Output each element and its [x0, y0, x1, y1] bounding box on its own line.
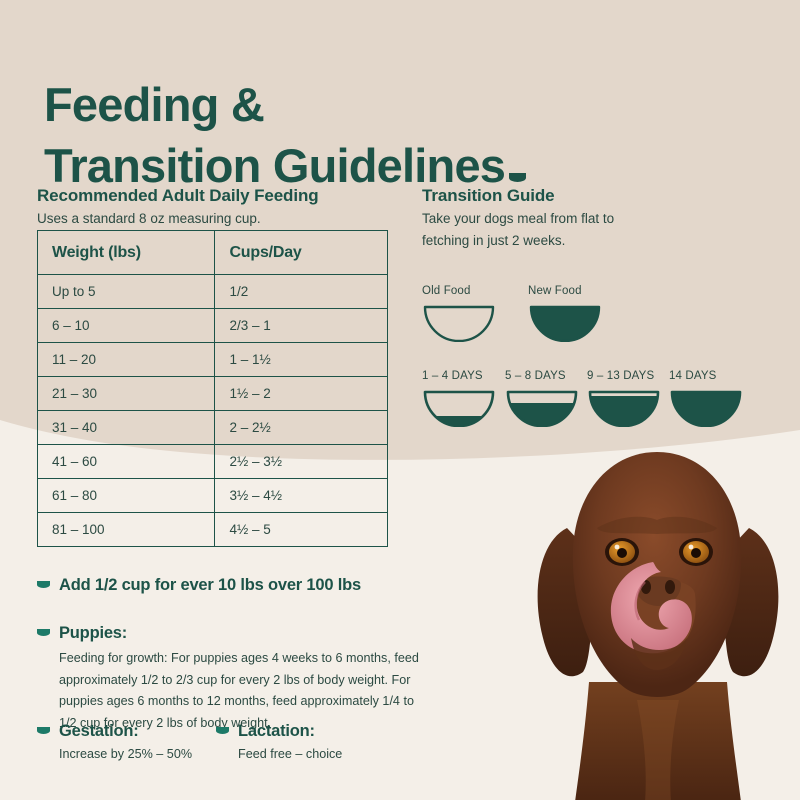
- stage-label: 9 – 13 DAYS: [587, 370, 661, 382]
- page-title-line-2: Transition Guidelines: [44, 139, 505, 192]
- table-row: 21 – 301½ – 2: [38, 377, 388, 411]
- bowl-bullet-icon: [37, 727, 50, 734]
- feeding-guidelines-page: Feeding & Transition Guidelines Recommen…: [0, 0, 800, 800]
- cell-cups: 1/2: [215, 275, 388, 309]
- table-row: 31 – 402 – 2½: [38, 411, 388, 445]
- table-row: 6 – 102/3 – 1: [38, 309, 388, 343]
- cell-weight: Up to 5: [38, 275, 215, 309]
- cell-cups: 4½ – 5: [215, 513, 388, 547]
- legend-old-food-label: Old Food: [422, 285, 496, 297]
- cell-weight: 6 – 10: [38, 309, 215, 343]
- note-gestation-heading: Gestation:: [59, 722, 139, 741]
- note-gestation-heading-row: Gestation:: [37, 722, 192, 741]
- stage-1-4-days: 1 – 4 DAYS: [422, 370, 496, 427]
- stage-label: 5 – 8 DAYS: [505, 370, 579, 382]
- cell-cups: 2½ – 3½: [215, 445, 388, 479]
- cell-cups: 2/3 – 1: [215, 309, 388, 343]
- stage-5-8-days: 5 – 8 DAYS: [505, 370, 579, 427]
- table-row: Up to 51/2: [38, 275, 388, 309]
- feeding-subheading: Uses a standard 8 oz measuring cup.: [37, 208, 397, 230]
- bowl-bullet-icon: [37, 581, 50, 588]
- table-row: 41 – 602½ – 3½: [38, 445, 388, 479]
- bowl-full-icon: [528, 304, 602, 342]
- note-lactation-body: Feed free – choice: [238, 744, 342, 766]
- cell-weight: 21 – 30: [38, 377, 215, 411]
- bowl-quarter-icon: [422, 389, 496, 427]
- feeding-heading: Recommended Adult Daily Feeding: [37, 186, 319, 206]
- legend-old-food: Old Food: [422, 285, 496, 342]
- note-gestation: Gestation: Increase by 25% – 50%: [37, 722, 192, 766]
- stage-label: 1 – 4 DAYS: [422, 370, 496, 382]
- stage-14-days: 14 DAYS: [669, 370, 743, 427]
- note-puppies-heading-row: Puppies:: [37, 624, 425, 643]
- table-header-row: Weight (lbs) Cups/Day: [38, 231, 388, 275]
- bowl-mostly-full-icon: [587, 389, 661, 427]
- table-row: 61 – 803½ – 4½: [38, 479, 388, 513]
- feeding-table: Weight (lbs) Cups/Day Up to 51/2 6 – 102…: [37, 230, 388, 547]
- cell-weight: 31 – 40: [38, 411, 215, 445]
- stage-9-13-days: 9 – 13 DAYS: [587, 370, 661, 427]
- page-title: Feeding & Transition Guidelines: [44, 75, 704, 195]
- cell-cups: 1½ – 2: [215, 377, 388, 411]
- note-puppies: Puppies: Feeding for growth: For puppies…: [37, 624, 425, 735]
- note-lactation: Lactation: Feed free – choice: [216, 722, 342, 766]
- bowl-empty-icon: [422, 304, 496, 342]
- bowl-period-icon: [509, 173, 526, 182]
- note-add-cup-heading-row: Add 1/2 cup for ever 10 lbs over 100 lbs: [37, 576, 361, 595]
- cell-weight: 61 – 80: [38, 479, 215, 513]
- cell-cups: 3½ – 4½: [215, 479, 388, 513]
- legend-new-food-label: New Food: [528, 285, 602, 297]
- table-row: 81 – 1004½ – 5: [38, 513, 388, 547]
- transition-heading: Transition Guide: [422, 186, 555, 206]
- page-title-line-1: Feeding &: [44, 75, 704, 135]
- column-header-weight: Weight (lbs): [38, 231, 215, 275]
- table-row: 11 – 201 – 1½: [38, 343, 388, 377]
- cell-cups: 2 – 2½: [215, 411, 388, 445]
- legend-new-food: New Food: [528, 285, 602, 342]
- note-puppies-heading: Puppies:: [59, 624, 127, 643]
- cell-weight: 41 – 60: [38, 445, 215, 479]
- cell-weight: 81 – 100: [38, 513, 215, 547]
- transition-subheading: Take your dogs meal from flat to fetchin…: [422, 208, 652, 251]
- note-add-cup-heading: Add 1/2 cup for ever 10 lbs over 100 lbs: [59, 576, 361, 595]
- bowl-bullet-icon: [216, 727, 229, 734]
- note-gestation-body: Increase by 25% – 50%: [59, 744, 192, 766]
- note-lactation-heading-row: Lactation:: [216, 722, 342, 741]
- column-header-cups: Cups/Day: [215, 231, 388, 275]
- cell-cups: 1 – 1½: [215, 343, 388, 377]
- note-add-cup: Add 1/2 cup for ever 10 lbs over 100 lbs: [37, 576, 361, 595]
- bowl-half-icon: [505, 389, 579, 427]
- cell-weight: 11 – 20: [38, 343, 215, 377]
- bowl-full-icon: [669, 389, 743, 427]
- bowl-bullet-icon: [37, 629, 50, 636]
- stage-label: 14 DAYS: [669, 370, 743, 382]
- note-lactation-heading: Lactation:: [238, 722, 315, 741]
